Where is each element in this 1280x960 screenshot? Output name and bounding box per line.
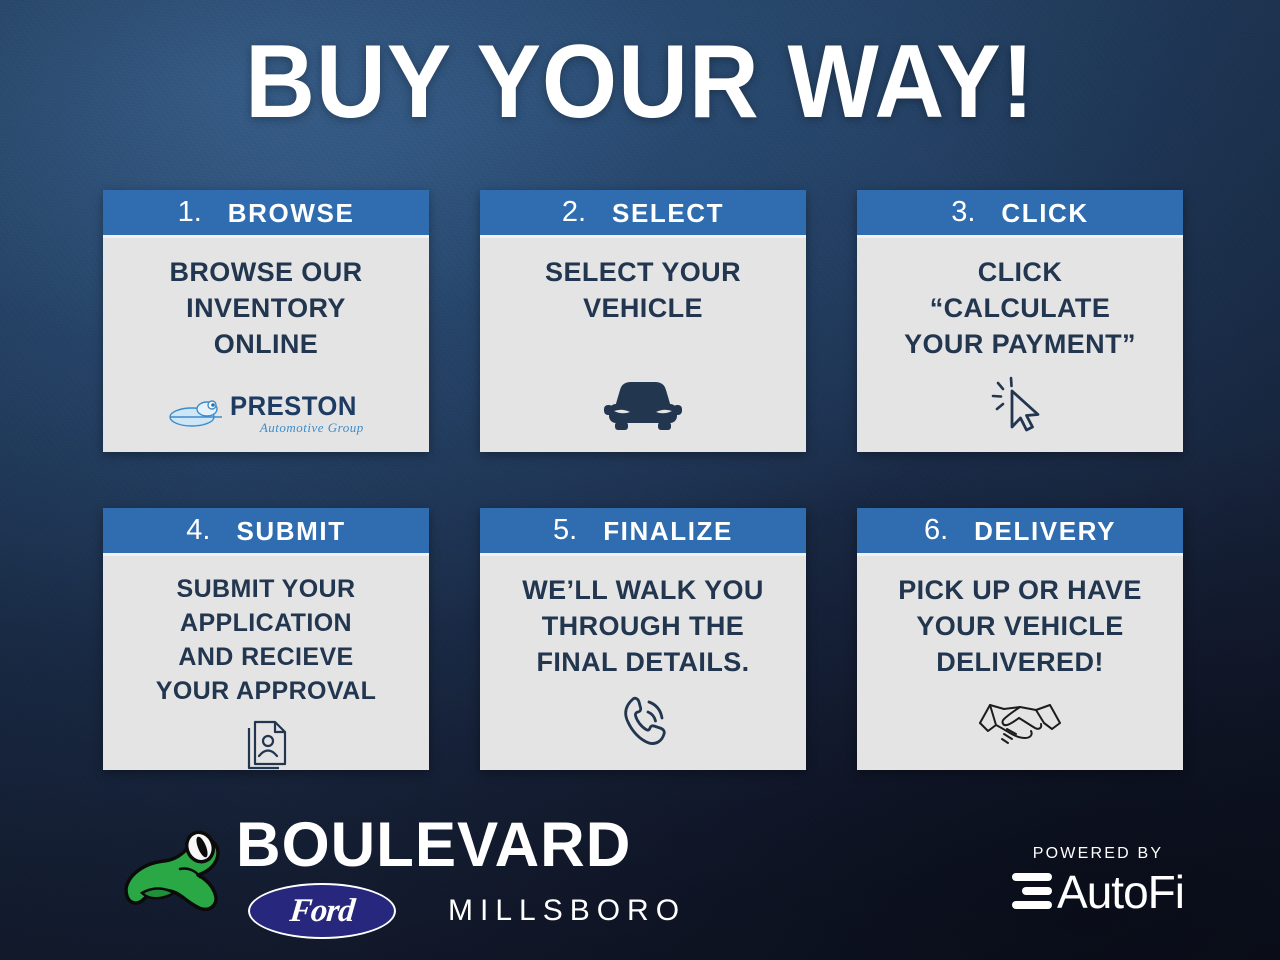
- preston-tagline: Automotive Group: [260, 421, 364, 434]
- autofi-logo[interactable]: POWERED BY AutoFi: [1012, 846, 1184, 915]
- page-title: BUY YOUR WAY!: [45, 28, 1235, 136]
- step-title: CLICK: [1001, 200, 1088, 226]
- step-icon-wrap: [237, 708, 295, 770]
- step-description: WE’LL WALK YOU THROUGH THE FINAL DETAILS…: [522, 572, 764, 680]
- step-icon-wrap: [612, 686, 674, 760]
- step-card-body: BROWSE OUR INVENTORY ONLINE PRESTON Auto…: [103, 238, 429, 452]
- steps-grid: 1. BROWSE BROWSE OUR INVENTORY ONLINE: [103, 190, 1183, 770]
- step-card-header: 2. SELECT: [480, 190, 806, 238]
- dealer-name: BOULEVARD: [236, 815, 677, 875]
- step-description: SELECT YOUR VEHICLE: [545, 254, 741, 326]
- step-card-browse[interactable]: 1. BROWSE BROWSE OUR INVENTORY ONLINE: [103, 190, 429, 452]
- step-title: SUBMIT: [236, 518, 345, 544]
- step-card-body: WE’LL WALK YOU THROUGH THE FINAL DETAILS…: [480, 556, 806, 770]
- autofi-wordmark: AutoFi: [1057, 869, 1184, 915]
- step-icon-wrap: [601, 368, 685, 442]
- footer: BOULEVARD Ford MILLSBORO POWERED BY Auto…: [0, 812, 1280, 942]
- step-title: BROWSE: [228, 200, 355, 226]
- step-title: SELECT: [612, 200, 724, 226]
- ford-logo: Ford: [248, 883, 396, 939]
- ford-wordmark: Ford: [288, 895, 355, 928]
- autofi-bars-icon: [1012, 873, 1052, 911]
- step-number: 5.: [553, 516, 577, 545]
- step-card-body: SUBMIT YOUR APPLICATION AND RECIEVE YOUR…: [103, 556, 429, 770]
- handshake-icon: [974, 693, 1066, 749]
- step-card-finalize[interactable]: 5. FINALIZE WE’LL WALK YOU THROUGH THE F…: [480, 508, 806, 770]
- step-title: FINALIZE: [603, 518, 733, 544]
- preston-wordmark: PRESTON Automotive Group: [230, 393, 364, 434]
- step-card-header: 3. CLICK: [857, 190, 1183, 238]
- step-card-body: CLICK “CALCULATE YOUR PAYMENT”: [857, 238, 1183, 452]
- frog-mascot-icon: [118, 827, 230, 927]
- powered-by-label: POWERED BY: [1033, 846, 1163, 862]
- step-card-header: 5. FINALIZE: [480, 508, 806, 556]
- dealer-subrow: Ford MILLSBORO: [236, 883, 686, 939]
- step-card-select[interactable]: 2. SELECT SELECT YOUR VEHICLE: [480, 190, 806, 452]
- step-icon-wrap: [974, 686, 1066, 760]
- step-description: PICK UP OR HAVE YOUR VEHICLE DELIVERED!: [898, 572, 1142, 680]
- step-number: 1.: [178, 198, 202, 227]
- step-title: DELIVERY: [974, 518, 1116, 544]
- preston-logo: PRESTON Automotive Group: [168, 393, 364, 442]
- step-number: 2.: [562, 198, 586, 227]
- step-card-body: SELECT YOUR VEHICLE: [480, 238, 806, 452]
- step-description: CLICK “CALCULATE YOUR PAYMENT”: [904, 254, 1136, 362]
- step-card-header: 4. SUBMIT: [103, 508, 429, 556]
- cursor-click-icon: [985, 372, 1055, 434]
- step-card-header: 6. DELIVERY: [857, 508, 1183, 556]
- step-card-click[interactable]: 3. CLICK CLICK “CALCULATE YOUR PAYMENT”: [857, 190, 1183, 452]
- car-icon: [601, 371, 685, 435]
- step-icon-wrap: [985, 368, 1055, 442]
- step-card-body: PICK UP OR HAVE YOUR VEHICLE DELIVERED!: [857, 556, 1183, 770]
- dealer-wordmark: BOULEVARD Ford MILLSBORO: [236, 815, 686, 939]
- phone-ringing-icon: [612, 690, 674, 752]
- step-description: BROWSE OUR INVENTORY ONLINE: [170, 254, 363, 362]
- step-card-delivery[interactable]: 6. DELIVERY PICK UP OR HAVE YOUR VEHICLE…: [857, 508, 1183, 770]
- step-card-submit[interactable]: 4. SUBMIT SUBMIT YOUR APPLICATION AND RE…: [103, 508, 429, 770]
- step-card-header: 1. BROWSE: [103, 190, 429, 238]
- step-number: 3.: [951, 198, 975, 227]
- dealer-city: MILLSBORO: [448, 896, 686, 926]
- preston-frog-icon: [168, 396, 226, 432]
- step-number: 6.: [924, 516, 948, 545]
- document-person-icon: [237, 714, 295, 770]
- promo-poster: BUY YOUR WAY! 1. BROWSE BROWSE OUR INVEN…: [0, 0, 1280, 960]
- preston-name: PRESTON: [230, 393, 357, 420]
- step-description: SUBMIT YOUR APPLICATION AND RECIEVE YOUR…: [156, 572, 377, 708]
- dealer-logo[interactable]: BOULEVARD Ford MILLSBORO: [118, 812, 686, 942]
- step-number: 4.: [186, 516, 210, 545]
- autofi-mark: AutoFi: [1012, 869, 1184, 915]
